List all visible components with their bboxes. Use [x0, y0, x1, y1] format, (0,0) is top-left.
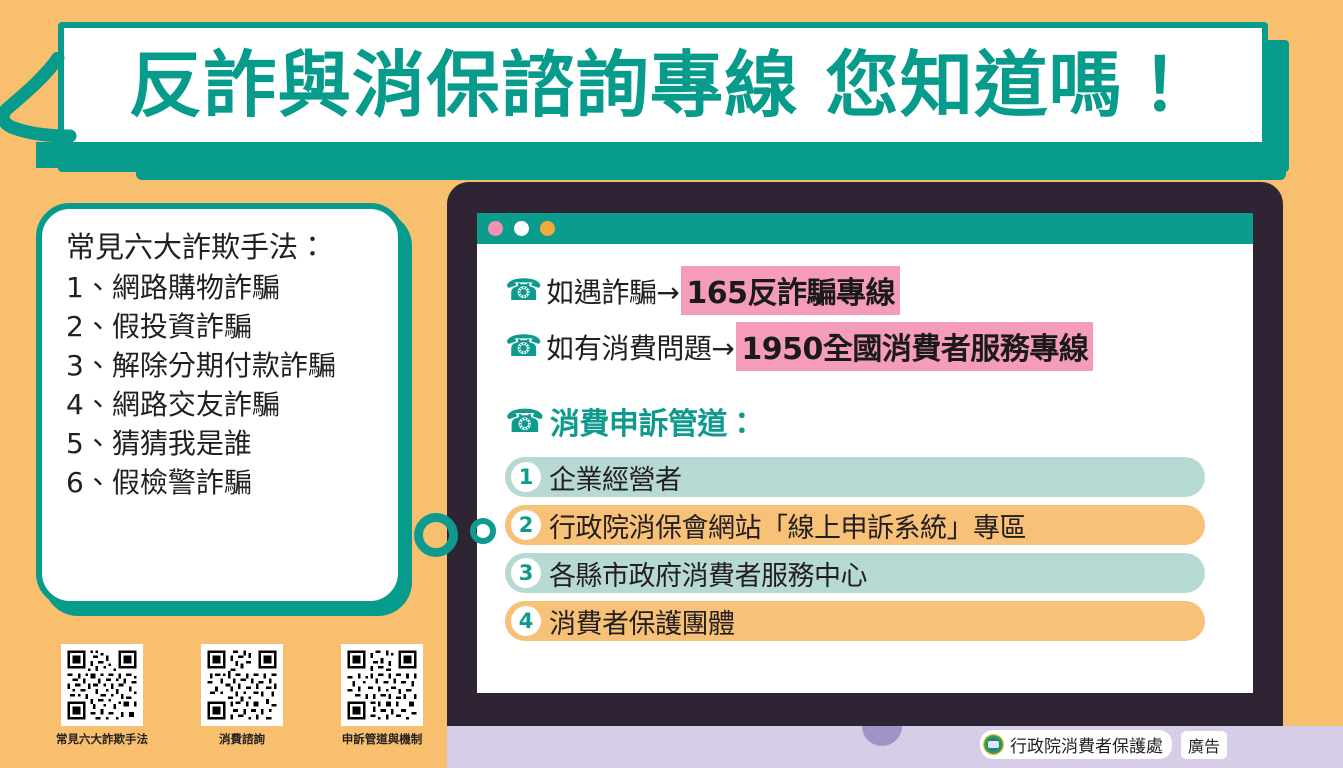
- hotline-lead-text: 如有消費問題→: [546, 327, 734, 367]
- footer-credit: 行政院消費者保護處 廣告: [980, 730, 1227, 759]
- qr-code-item[interactable]: 申訴管道與機制: [330, 644, 434, 747]
- fraud-item: 5、猜猜我是誰: [66, 430, 374, 458]
- hotline-number-badge: 165反詐騙專線: [681, 266, 900, 315]
- title-shadow-underline: [136, 168, 1286, 180]
- hotline-row: ☎ 如遇詐騙→ 165反詐騙專線: [505, 266, 1227, 315]
- connector-ring-large: [414, 513, 458, 557]
- channel-number-badge: 2: [511, 510, 541, 540]
- fraud-item: 1、網路購物詐騙: [66, 274, 374, 302]
- browser-titlebar: [477, 213, 1253, 244]
- channel-row[interactable]: 2 行政院消保會網站「線上申訴系統」專區: [505, 505, 1205, 545]
- fraud-item: 6、假檢警詐騙: [66, 469, 374, 497]
- telephone-icon: ☎: [505, 405, 545, 437]
- title-banner: 反詐與消保諮詢專線 您知道嗎！: [36, 22, 1289, 172]
- browser-window: ☎ 如遇詐騙→ 165反詐騙專線 ☎ 如有消費問題→ 1950全國消費者服務專線…: [477, 213, 1253, 693]
- qr-code-label: 消費諮詢: [190, 731, 294, 747]
- qr-code-item[interactable]: 常見六大詐欺手法: [50, 644, 154, 747]
- qr-code-item[interactable]: 消費諮詢: [190, 644, 294, 747]
- hotline-number-badge: 1950全國消費者服務專線: [736, 322, 1093, 371]
- fraud-methods-heading: 常見六大詐欺手法：: [66, 231, 374, 263]
- agency-name: 行政院消費者保護處: [1010, 732, 1163, 757]
- fraud-methods-card: 常見六大詐欺手法： 1、網路購物詐騙 2、假投資詐騙 3、解除分期付款詐騙 4、…: [36, 203, 404, 607]
- qr-code-row: 常見六大詐欺手法: [50, 644, 450, 747]
- government-emblem-icon: [983, 734, 1004, 755]
- channel-label: 行政院消保會網站「線上申訴系統」專區: [549, 506, 1026, 545]
- window-close-dot[interactable]: [488, 221, 503, 236]
- qr-code-icon: [341, 644, 423, 726]
- hotline-lead-text: 如遇詐騙→: [546, 271, 679, 311]
- telephone-icon: ☎: [505, 276, 542, 306]
- connector-ring-small: [470, 518, 496, 544]
- channel-row[interactable]: 1 企業經營者: [505, 457, 1205, 497]
- fraud-item: 4、網路交友詐騙: [66, 391, 374, 419]
- qr-code-label: 常見六大詐欺手法: [50, 731, 154, 747]
- qr-code-label: 申訴管道與機制: [330, 731, 434, 747]
- window-minimize-dot[interactable]: [514, 221, 529, 236]
- complaint-channels-title: 消費申訴管道：: [550, 399, 757, 443]
- poster-root: 反詐與消保諮詢專線 您知道嗎！ 常見六大詐欺手法： 1、網路購物詐騙 2、假投資…: [0, 0, 1343, 768]
- channel-number-badge: 4: [511, 606, 541, 636]
- channel-number-badge: 3: [511, 558, 541, 588]
- agency-pill: 行政院消費者保護處: [980, 730, 1172, 759]
- channel-label: 消費者保護團體: [549, 602, 735, 641]
- fraud-item: 2、假投資詐騙: [66, 313, 374, 341]
- channel-label: 各縣市政府消費者服務中心: [549, 554, 867, 593]
- telephone-icon: ☎: [505, 332, 542, 362]
- laptop-base-notch: [862, 726, 902, 746]
- hotline-row: ☎ 如有消費問題→ 1950全國消費者服務專線: [505, 322, 1227, 371]
- channel-label: 企業經營者: [549, 458, 682, 497]
- page-title: 反詐與消保諮詢專線 您知道嗎！: [128, 49, 1197, 121]
- ad-label: 廣告: [1181, 731, 1227, 759]
- channel-row[interactable]: 3 各縣市政府消費者服務中心: [505, 553, 1205, 593]
- browser-content: ☎ 如遇詐騙→ 165反詐騙專線 ☎ 如有消費問題→ 1950全國消費者服務專線…: [477, 244, 1253, 659]
- complaint-channels-heading: ☎ 消費申訴管道：: [505, 399, 1227, 443]
- channel-row[interactable]: 4 消費者保護團體: [505, 601, 1205, 641]
- fraud-item: 3、解除分期付款詐騙: [66, 352, 374, 380]
- qr-code-icon: [201, 644, 283, 726]
- title-card: 反詐與消保諮詢專線 您知道嗎！: [58, 22, 1268, 148]
- channel-number-badge: 1: [511, 462, 541, 492]
- window-maximize-dot[interactable]: [540, 221, 555, 236]
- qr-code-icon: [61, 644, 143, 726]
- title-squiggle-decoration: [0, 52, 86, 144]
- laptop-illustration: ☎ 如遇詐騙→ 165反詐騙專線 ☎ 如有消費問題→ 1950全國消費者服務專線…: [447, 182, 1283, 726]
